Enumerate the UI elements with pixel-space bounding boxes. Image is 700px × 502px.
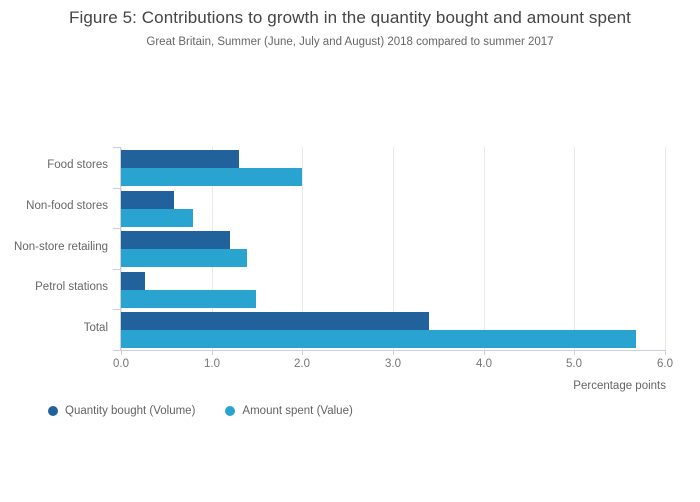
legend-swatch-circle-icon [48, 406, 58, 416]
x-tick-mark-0.0 [121, 350, 122, 355]
legend-item-volume[interactable]: Quantity bought (Volume) [48, 405, 195, 417]
y-tick-mark [113, 188, 121, 189]
bar-volume[interactable] [121, 150, 239, 168]
bar-volume[interactable] [121, 312, 429, 330]
x-tick-label-4.0: 4.0 [454, 358, 514, 370]
bar-group [121, 269, 665, 310]
bar-value[interactable] [121, 330, 636, 348]
x-tick-label-6.0: 6.0 [635, 358, 695, 370]
y-tick-mark [113, 309, 121, 310]
bar-value[interactable] [121, 290, 256, 308]
y-axis-label-non-food-stores: Non-food stores [0, 200, 108, 212]
y-tick-mark [113, 228, 121, 229]
x-tick-mark-3.0 [393, 350, 394, 355]
x-tick-label-5.0: 5.0 [544, 358, 604, 370]
bar-group [121, 309, 665, 350]
y-axis-label-total: Total [0, 322, 108, 334]
y-axis-label-petrol-stations: Petrol stations [0, 281, 108, 293]
bar-volume[interactable] [121, 191, 174, 209]
x-tick-label-3.0: 3.0 [363, 358, 423, 370]
bar-value[interactable] [121, 209, 193, 227]
legend-item-value[interactable]: Amount spent (Value) [225, 405, 352, 417]
y-tick-mark [113, 269, 121, 270]
legend-swatch-circle-icon [225, 406, 235, 416]
y-axis-label-non-store-retailing: Non-store retailing [0, 241, 108, 253]
x-tick-mark-5.0 [574, 350, 575, 355]
x-tick-label-1.0: 1.0 [182, 358, 242, 370]
bar-value[interactable] [121, 249, 247, 267]
x-axis-line [113, 350, 665, 351]
bar-volume[interactable] [121, 231, 230, 249]
x-tick-label-0.0: 0.0 [91, 358, 151, 370]
x-tick-mark-6.0 [665, 350, 666, 355]
y-axis-label-food-stores: Food stores [0, 159, 108, 171]
gridline-6.0 [665, 147, 666, 350]
x-tick-mark-1.0 [212, 350, 213, 355]
x-axis-title: Percentage points [365, 380, 666, 392]
x-tick-mark-4.0 [484, 350, 485, 355]
legend-label: Amount spent (Value) [242, 405, 352, 417]
bar-group [121, 228, 665, 269]
bar-group [121, 188, 665, 229]
legend-label: Quantity bought (Volume) [65, 405, 195, 417]
chart-legend: Quantity bought (Volume)Amount spent (Va… [48, 405, 353, 417]
chart-subtitle: Great Britain, Summer (June, July and Au… [0, 36, 700, 48]
bar-value[interactable] [121, 168, 302, 186]
bar-volume[interactable] [121, 272, 145, 290]
y-tick-mark [113, 147, 121, 148]
x-tick-mark-2.0 [302, 350, 303, 355]
x-tick-label-2.0: 2.0 [272, 358, 332, 370]
chart-title: Figure 5: Contributions to growth in the… [0, 8, 700, 28]
bar-group [121, 147, 665, 188]
